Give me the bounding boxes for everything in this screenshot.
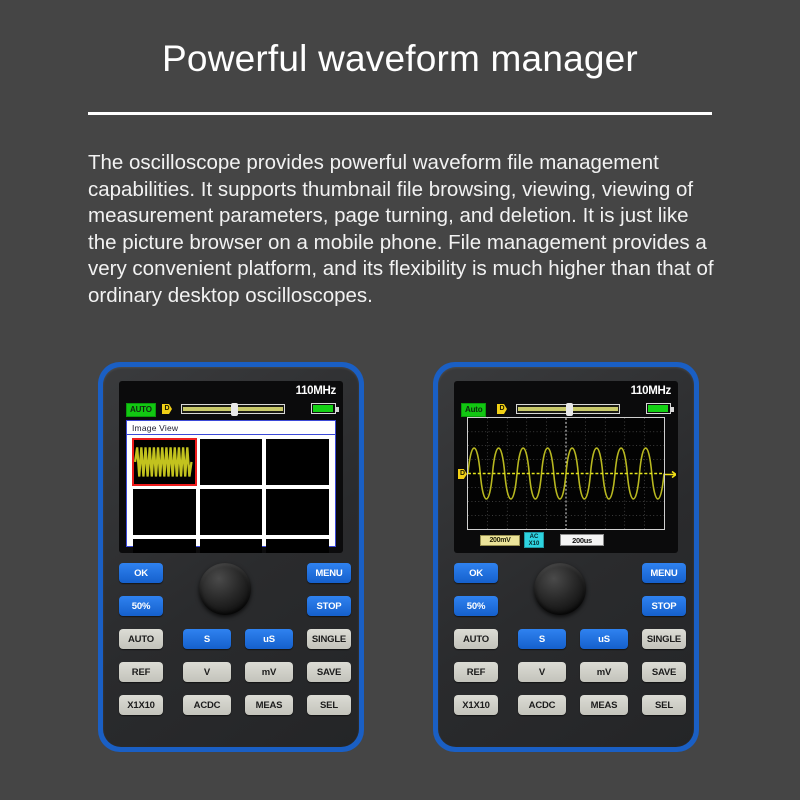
button-50-percent[interactable]: 50% bbox=[454, 596, 498, 616]
thumbnail-item-1[interactable] bbox=[133, 439, 196, 485]
slider-thumb[interactable] bbox=[566, 403, 573, 416]
battery-level bbox=[313, 405, 333, 412]
thumbnail-item-2[interactable] bbox=[200, 439, 263, 485]
page-title: Powerful waveform manager bbox=[0, 38, 800, 80]
trigger-marker-icon: D bbox=[497, 404, 507, 414]
mode-badge-auto: Auto bbox=[461, 403, 486, 417]
oscilloscope-device-waveform: 110MHz Auto D bbox=[433, 362, 699, 752]
volts-per-div-label[interactable]: 200mV bbox=[480, 535, 520, 546]
coupling-label[interactable]: AC X10 bbox=[524, 532, 544, 548]
battery-nub bbox=[336, 407, 339, 412]
thumbnail-item-9[interactable] bbox=[266, 539, 329, 553]
button-s[interactable]: S bbox=[518, 629, 566, 649]
button-stop[interactable]: STOP bbox=[642, 596, 686, 616]
thumbnail-grid bbox=[127, 435, 335, 553]
frequency-label: 110MHz bbox=[296, 385, 336, 397]
navigation-knob[interactable] bbox=[199, 563, 251, 615]
arrow-right-icon bbox=[665, 471, 676, 478]
thumbnail-item-7[interactable] bbox=[133, 539, 196, 553]
button-us[interactable]: uS bbox=[245, 629, 293, 649]
waveform-svg bbox=[468, 418, 664, 529]
button-50-percent[interactable]: 50% bbox=[119, 596, 163, 616]
thumbnail-item-5[interactable] bbox=[200, 489, 263, 535]
battery-level bbox=[648, 405, 668, 412]
keypad-left: OK MENU 50% STOP AUTO S uS SINGLE REF V … bbox=[117, 563, 345, 735]
battery-icon bbox=[311, 403, 336, 414]
button-menu[interactable]: MENU bbox=[642, 563, 686, 583]
page-description: The oscilloscope provides powerful wavef… bbox=[88, 150, 716, 309]
button-save[interactable]: SAVE bbox=[307, 662, 351, 682]
title-divider bbox=[88, 112, 712, 115]
button-single[interactable]: SINGLE bbox=[307, 629, 351, 649]
button-save[interactable]: SAVE bbox=[642, 662, 686, 682]
screen-topbar: AUTO D bbox=[126, 402, 336, 416]
button-ref[interactable]: REF bbox=[119, 662, 163, 682]
slider-thumb[interactable] bbox=[231, 403, 238, 416]
trigger-marker-icon: D bbox=[162, 404, 172, 414]
button-meas[interactable]: MEAS bbox=[580, 695, 628, 715]
button-auto[interactable]: AUTO bbox=[119, 629, 163, 649]
thumbnail-item-8[interactable] bbox=[200, 539, 263, 553]
device-screen-waveform: 110MHz Auto D bbox=[454, 381, 678, 553]
button-v[interactable]: V bbox=[183, 662, 231, 682]
frequency-label: 110MHz bbox=[631, 385, 671, 397]
button-auto[interactable]: AUTO bbox=[454, 629, 498, 649]
thumbnail-waveform-icon bbox=[133, 439, 196, 485]
button-sel[interactable]: SEL bbox=[307, 695, 351, 715]
button-x1x10[interactable]: X1X10 bbox=[119, 695, 163, 715]
coupling-mode: AC bbox=[525, 534, 543, 541]
probe-ratio: X10 bbox=[525, 541, 543, 548]
device-body: 110MHz AUTO D Image View bbox=[103, 367, 359, 747]
battery-icon bbox=[646, 403, 671, 414]
navigation-knob[interactable] bbox=[534, 563, 586, 615]
horizontal-position-slider[interactable] bbox=[181, 404, 285, 414]
button-ref[interactable]: REF bbox=[454, 662, 498, 682]
channel-marker-icon: D bbox=[458, 469, 467, 479]
time-per-div-label[interactable]: 200us bbox=[560, 534, 604, 546]
waveform-status-bar: 200mV AC X10 200us bbox=[467, 533, 665, 547]
thumbnail-item-3[interactable] bbox=[266, 439, 329, 485]
button-s[interactable]: S bbox=[183, 629, 231, 649]
horizontal-position-slider[interactable] bbox=[516, 404, 620, 414]
thumbnail-item-6[interactable] bbox=[266, 489, 329, 535]
thumbnail-item-4[interactable] bbox=[133, 489, 196, 535]
button-v[interactable]: V bbox=[518, 662, 566, 682]
image-view-title: Image View bbox=[127, 421, 335, 435]
waveform-plot bbox=[467, 417, 665, 530]
button-sel[interactable]: SEL bbox=[642, 695, 686, 715]
button-us[interactable]: uS bbox=[580, 629, 628, 649]
button-x1x10[interactable]: X1X10 bbox=[454, 695, 498, 715]
image-view-panel: Image View bbox=[126, 420, 336, 547]
button-single[interactable]: SINGLE bbox=[642, 629, 686, 649]
battery-nub bbox=[671, 407, 674, 412]
oscilloscope-device-image-view: 110MHz AUTO D Image View bbox=[98, 362, 364, 752]
button-mv[interactable]: mV bbox=[245, 662, 293, 682]
device-screen-image-view: 110MHz AUTO D Image View bbox=[119, 381, 343, 553]
button-acdc[interactable]: ACDC bbox=[183, 695, 231, 715]
keypad-right: OK MENU 50% STOP AUTO S uS SINGLE REF V … bbox=[452, 563, 680, 735]
screen-topbar: Auto D bbox=[461, 402, 671, 416]
button-acdc[interactable]: ACDC bbox=[518, 695, 566, 715]
button-meas[interactable]: MEAS bbox=[245, 695, 293, 715]
button-ok[interactable]: OK bbox=[119, 563, 163, 583]
button-ok[interactable]: OK bbox=[454, 563, 498, 583]
mode-badge-auto: AUTO bbox=[126, 403, 156, 417]
button-mv[interactable]: mV bbox=[580, 662, 628, 682]
button-stop[interactable]: STOP bbox=[307, 596, 351, 616]
device-body: 110MHz Auto D bbox=[438, 367, 694, 747]
button-menu[interactable]: MENU bbox=[307, 563, 351, 583]
